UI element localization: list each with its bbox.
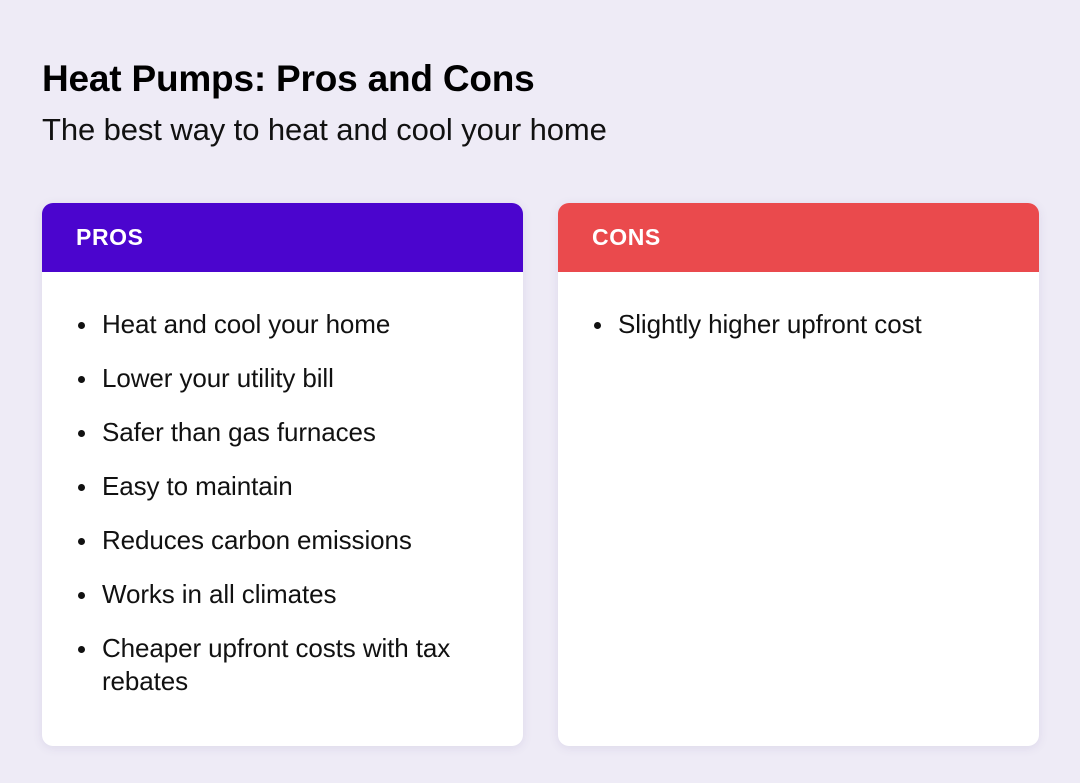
pros-card-header: PROS: [42, 203, 523, 272]
pros-card-header-label: PROS: [76, 224, 144, 251]
list-item: Works in all climates: [72, 578, 493, 611]
cons-card-header-label: CONS: [592, 224, 661, 251]
list-item: Safer than gas furnaces: [72, 416, 493, 449]
list-item: Cheaper upfront costs with tax rebates: [72, 632, 493, 698]
cons-list: Slightly higher upfront cost: [588, 308, 1009, 341]
list-item: Heat and cool your home: [72, 308, 493, 341]
list-item: Lower your utility bill: [72, 362, 493, 395]
comparison-cards: PROS Heat and cool your homeLower your u…: [42, 203, 1040, 746]
pros-card: PROS Heat and cool your homeLower your u…: [42, 203, 523, 746]
page-title: Heat Pumps: Pros and Cons: [42, 56, 1002, 102]
pros-card-body: Heat and cool your homeLower your utilit…: [42, 272, 523, 746]
list-item: Reduces carbon emissions: [72, 524, 493, 557]
page-subtitle: The best way to heat and cool your home: [42, 111, 1002, 149]
pros-list: Heat and cool your homeLower your utilit…: [72, 308, 493, 698]
list-item: Slightly higher upfront cost: [588, 308, 1009, 341]
cons-card-body: Slightly higher upfront cost: [558, 272, 1039, 746]
cons-card: CONS Slightly higher upfront cost: [558, 203, 1039, 746]
header-block: Heat Pumps: Pros and Cons The best way t…: [42, 56, 1002, 149]
list-item: Easy to maintain: [72, 470, 493, 503]
infographic-page: Heat Pumps: Pros and Cons The best way t…: [0, 0, 1080, 783]
cons-card-header: CONS: [558, 203, 1039, 272]
